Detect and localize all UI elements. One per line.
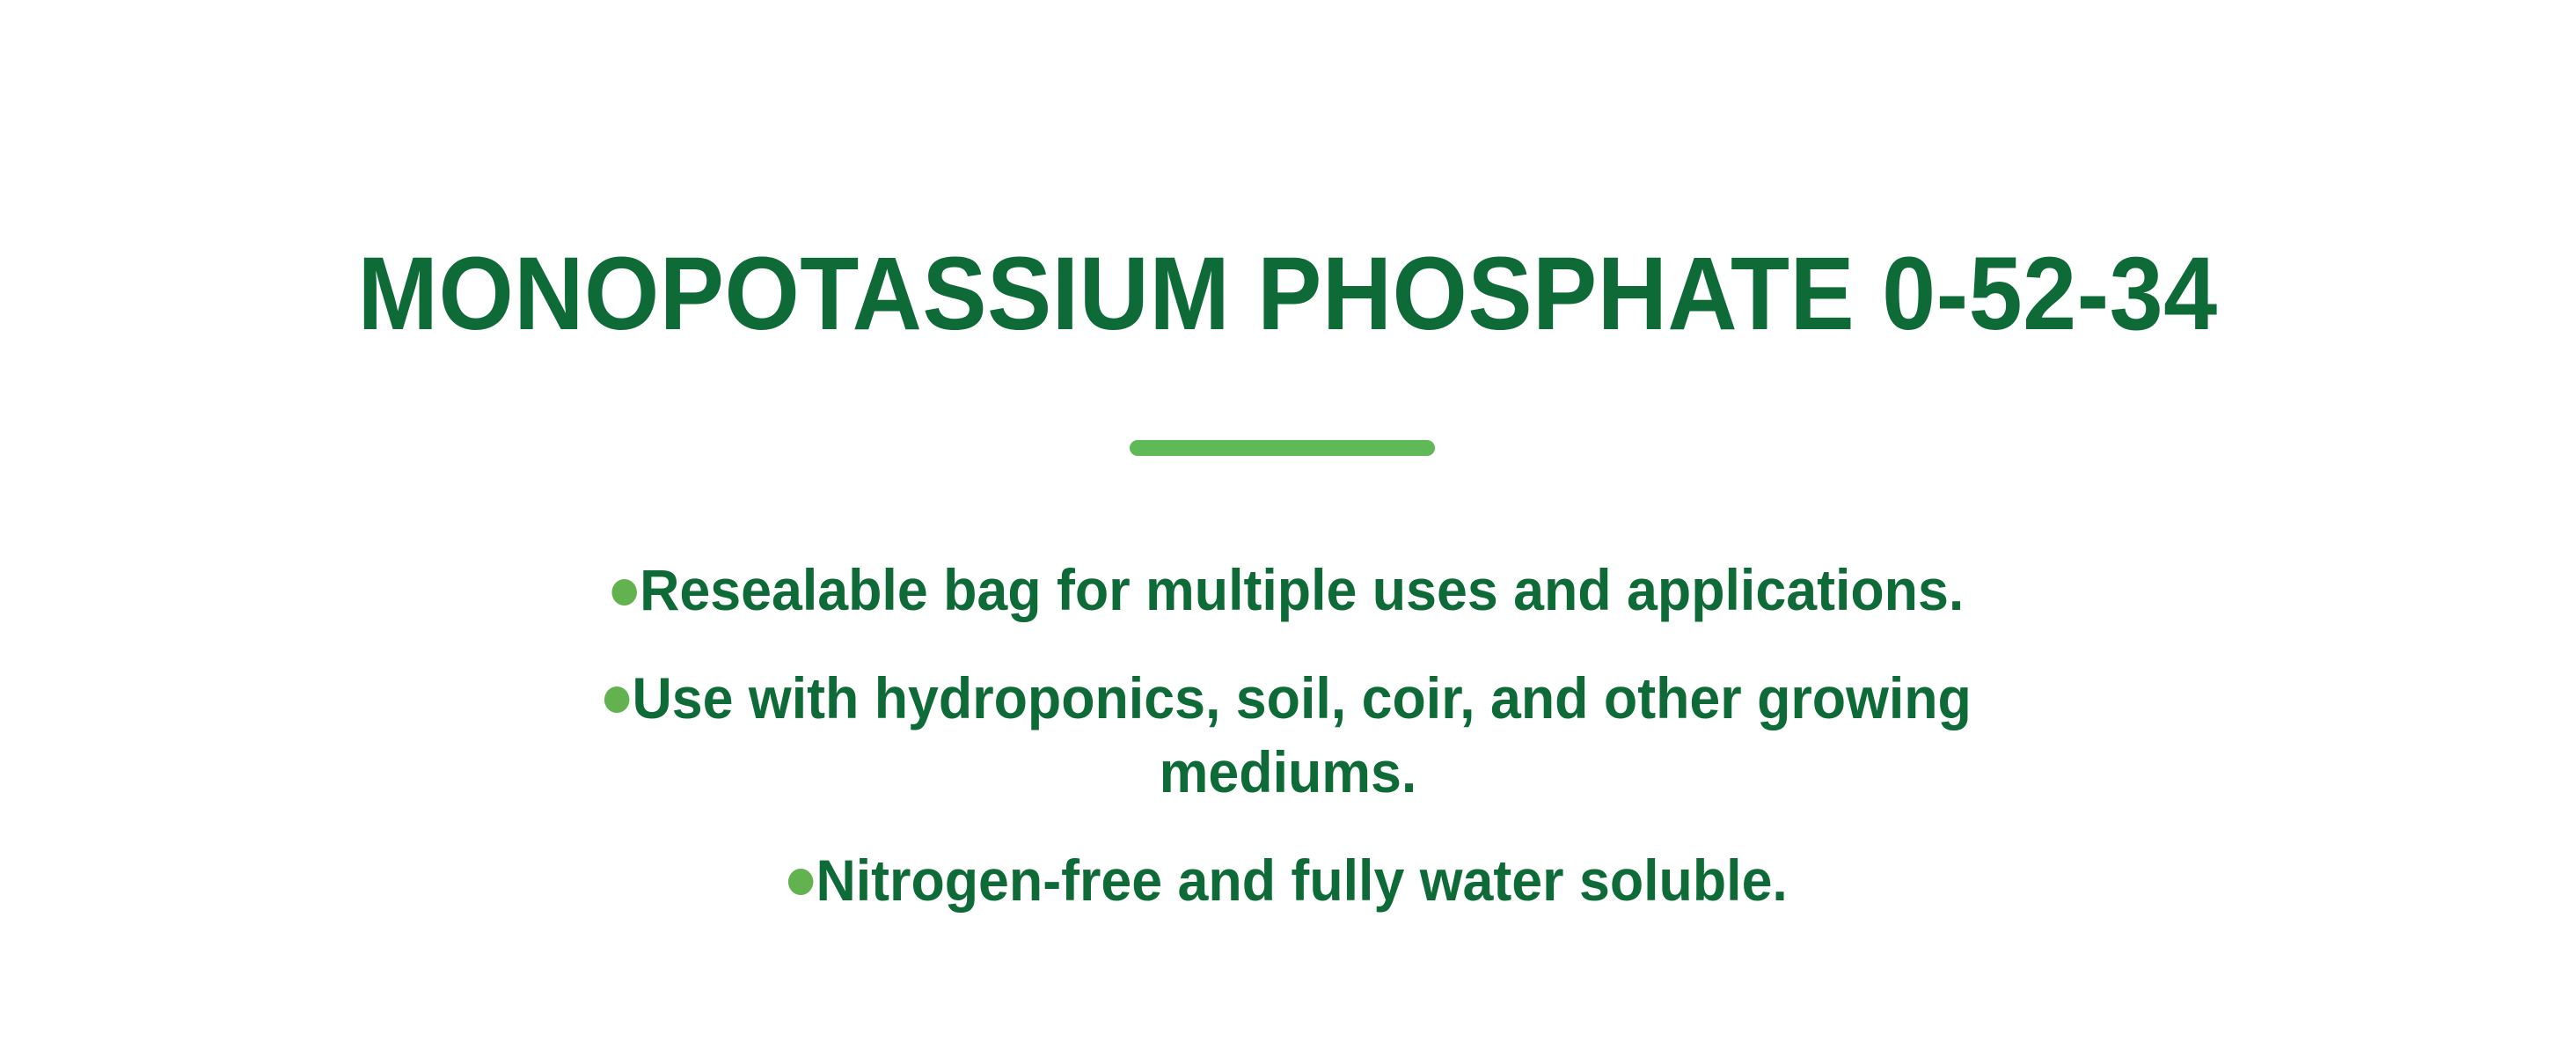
feature-text: Use with hydroponics, soil, coir, and ot… bbox=[632, 665, 1971, 804]
title-block: MONOPOTASSIUM PHOSPHATE 0-52-34 bbox=[0, 172, 2576, 456]
bullet-dot-icon bbox=[612, 579, 638, 606]
bullet-dot-icon bbox=[788, 869, 814, 895]
title-underline-divider bbox=[1130, 440, 1435, 456]
feature-text: Nitrogen-free and fully water soluble. bbox=[816, 848, 1787, 913]
bullet-dot-icon bbox=[604, 686, 630, 713]
list-item: Use with hydroponics, soil, coir, and ot… bbox=[511, 661, 2066, 810]
product-feature-panel: MONOPOTASSIUM PHOSPHATE 0-52-34 Resealab… bbox=[0, 0, 2576, 1057]
feature-text: Resealable bag for multiple uses and app… bbox=[640, 557, 1964, 622]
list-item: Resealable bag for multiple uses and app… bbox=[511, 553, 2066, 627]
feature-list: Resealable bag for multiple uses and app… bbox=[470, 553, 2106, 917]
list-item: Nitrogen-free and fully water soluble. bbox=[511, 843, 2066, 917]
page-title: MONOPOTASSIUM PHOSPHATE 0-52-34 bbox=[358, 242, 2218, 346]
